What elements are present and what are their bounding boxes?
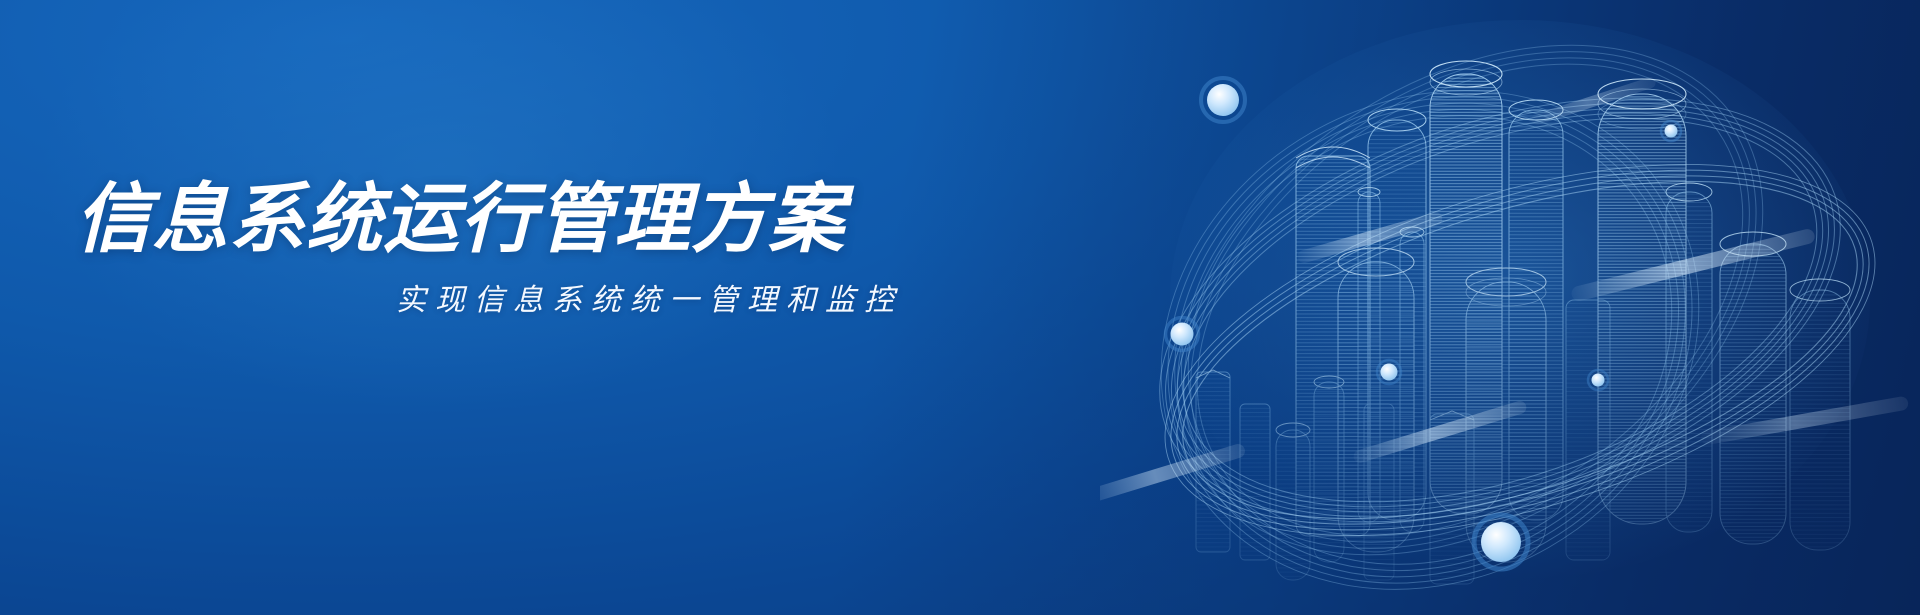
page-subtitle: 实现信息系统统一管理和监控: [75, 284, 955, 317]
background-bottom-left-shade: [0, 295, 883, 615]
banner-text-block: 信息系统运行管理方案 实现信息系统统一管理和监控: [75, 182, 955, 317]
hero-banner: 信息系统运行管理方案 实现信息系统统一管理和监控: [0, 0, 1920, 615]
tower-right-1: [1720, 232, 1786, 544]
page-title: 信息系统运行管理方案: [75, 182, 955, 258]
glow-dot-top-left: [1201, 78, 1245, 122]
glow-dot-center: [1377, 360, 1401, 384]
glow-dot-bottom: [1474, 515, 1528, 569]
tower-low-2: [1240, 404, 1270, 560]
wireframe-city-illustration: [1100, 0, 1920, 615]
tower-low-6: [1364, 404, 1394, 580]
